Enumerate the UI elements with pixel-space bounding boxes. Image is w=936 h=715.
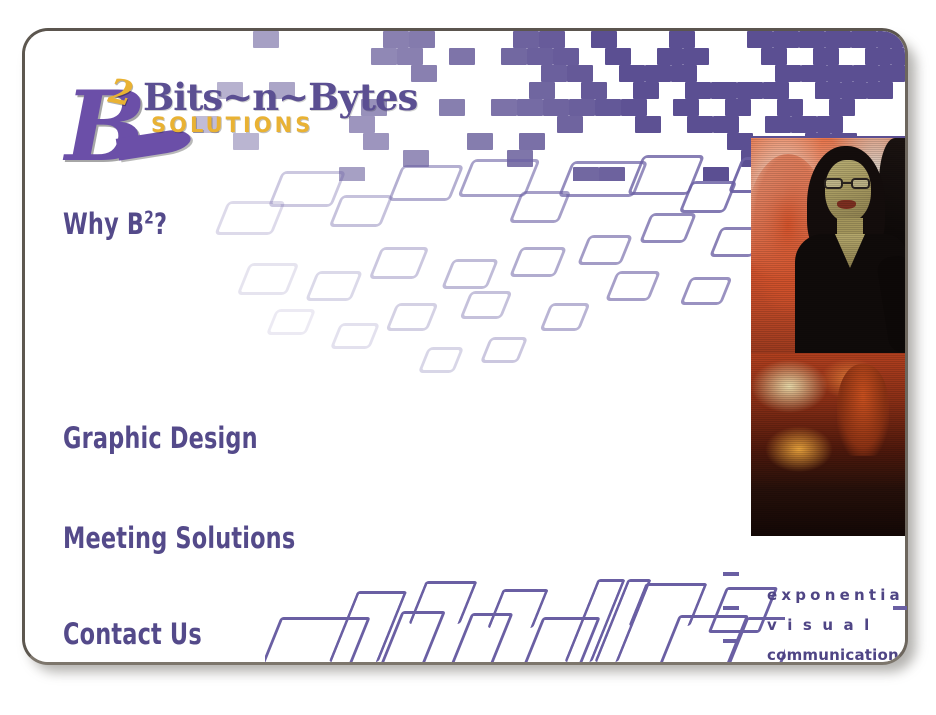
hero-photo — [751, 136, 905, 536]
content-card: B 2 Bits~n~Bytes SOLUTIONS Why B2? Graph… — [22, 28, 908, 665]
tagline: exponential visual communications — [767, 586, 905, 662]
logo[interactable]: B 2 Bits~n~Bytes SOLUTIONS — [59, 61, 389, 171]
photo-halftone-grain — [751, 138, 905, 536]
tagline-dash — [723, 606, 739, 610]
nav-link-graphic-design[interactable]: Graphic Design — [63, 423, 258, 453]
tagline-dash — [723, 572, 739, 576]
tagline-dash — [723, 639, 737, 643]
circuit-trace-pattern — [265, 571, 785, 662]
logo-subtitle: SOLUTIONS — [151, 113, 313, 137]
tagline-line-2: visual — [767, 616, 905, 634]
page-root: B 2 Bits~n~Bytes SOLUTIONS Why B2? Graph… — [0, 0, 936, 715]
nav-link-why-b2[interactable]: Why B2? — [63, 209, 167, 239]
nav-link-contact-us[interactable]: Contact Us — [63, 619, 202, 649]
card-inner: B 2 Bits~n~Bytes SOLUTIONS Why B2? Graph… — [25, 31, 905, 662]
tagline-dash — [893, 606, 907, 610]
tagline-line-1: exponential — [767, 586, 905, 604]
tagline-line-3: communications — [767, 646, 905, 662]
nav-link-meeting-solutions[interactable]: Meeting Solutions — [63, 523, 295, 553]
